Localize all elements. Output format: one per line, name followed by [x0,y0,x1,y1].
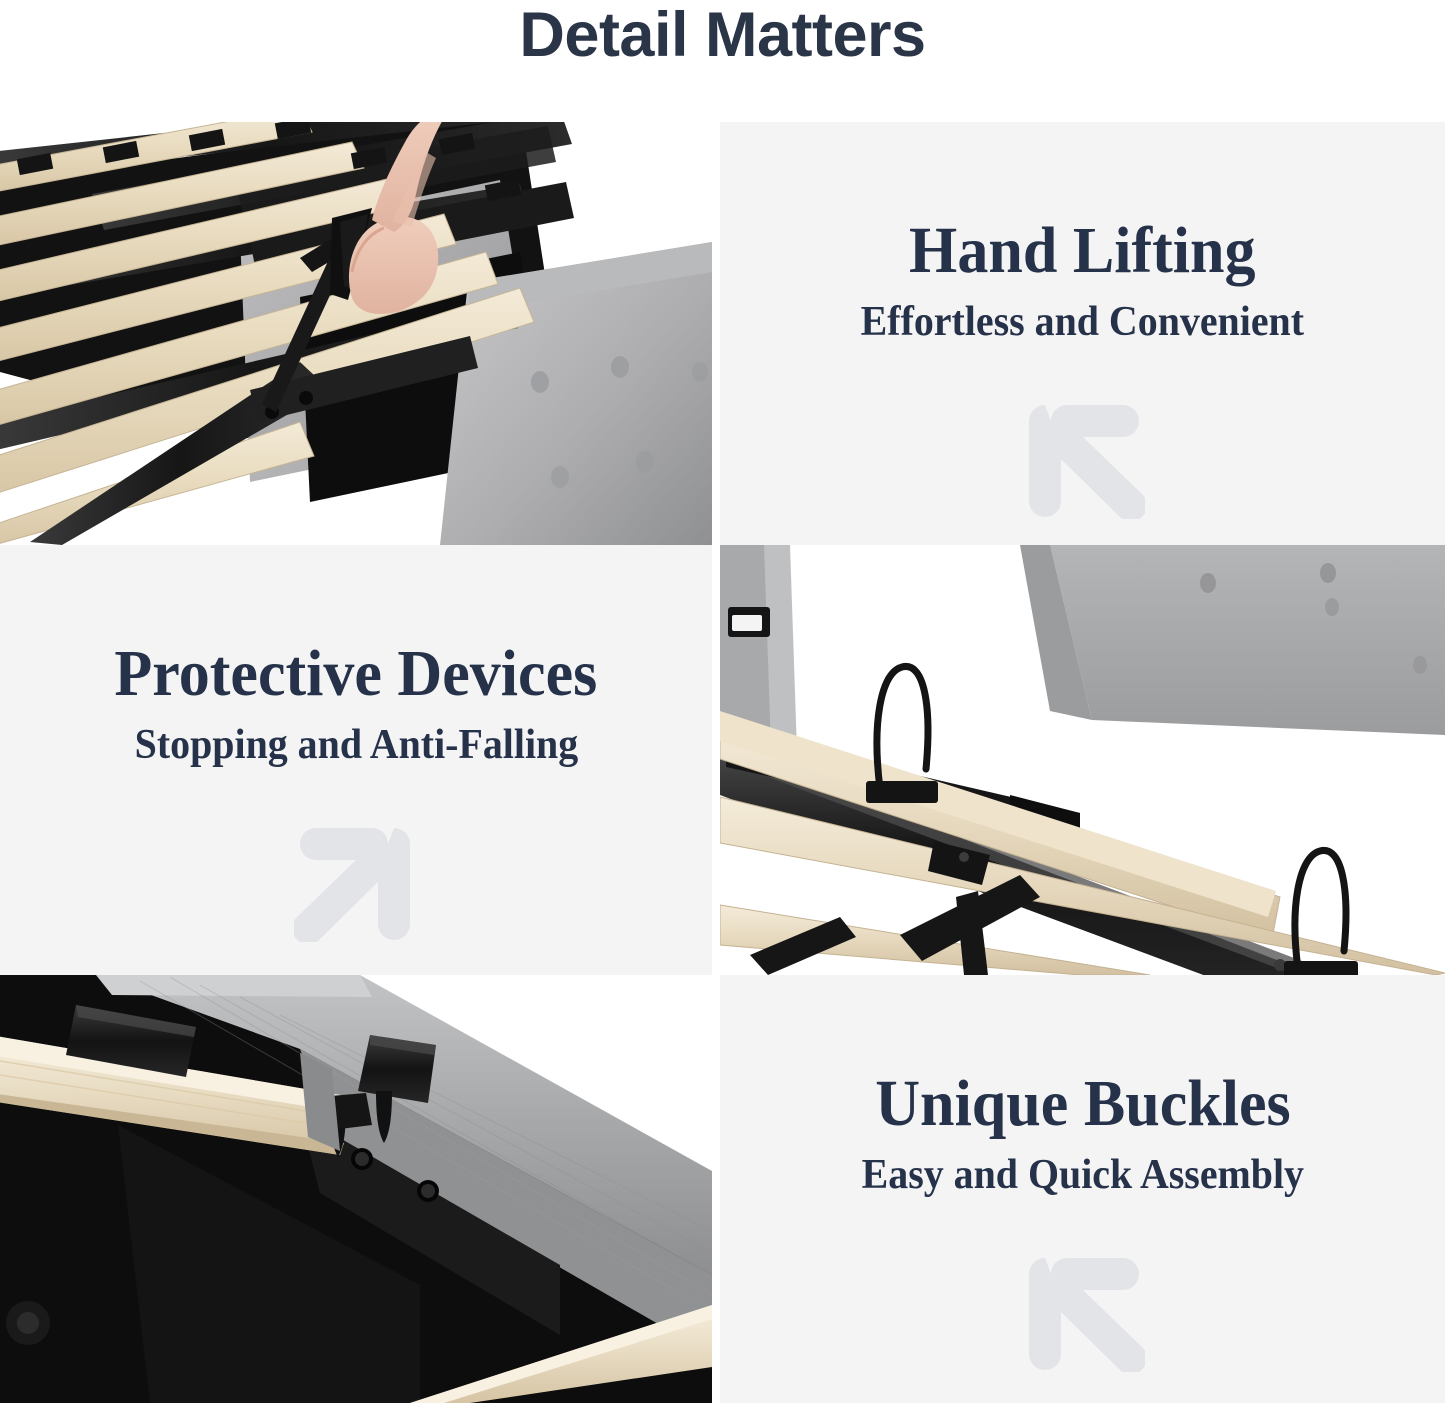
arrow-up-left-icon [1021,1254,1145,1372]
feature-title: Hand Lifting [909,216,1255,285]
feature-text-hand-lifting: Hand Lifting Effortless and Convenient [720,122,1445,545]
feature-subtitle: Stopping and Anti-Falling [134,722,578,768]
feature-text-protective-devices: Protective Devices Stopping and Anti-Fal… [0,545,712,975]
arrow-up-left-icon [1021,401,1145,519]
page-title: Detail Matters [519,4,925,67]
detail-matters-infographic: Detail Matters [0,0,1445,1403]
feature-subtitle: Effortless and Convenient [861,299,1304,345]
feature-grid: Hand Lifting Effortless and Convenient P… [0,122,1445,1403]
feature-title: Unique Buckles [875,1069,1290,1138]
title-bar: Detail Matters [0,0,1445,122]
slat-buckle-closeup-photo [0,975,712,1403]
feature-title: Protective Devices [115,639,598,708]
feature-text-unique-buckles: Unique Buckles Easy and Quick Assembly [720,975,1445,1403]
protective-wire-hooks-photo [720,545,1445,975]
hand-lifting-bed-frame-photo [0,122,712,545]
arrow-up-right-icon [294,824,418,942]
feature-subtitle: Easy and Quick Assembly [861,1152,1303,1198]
